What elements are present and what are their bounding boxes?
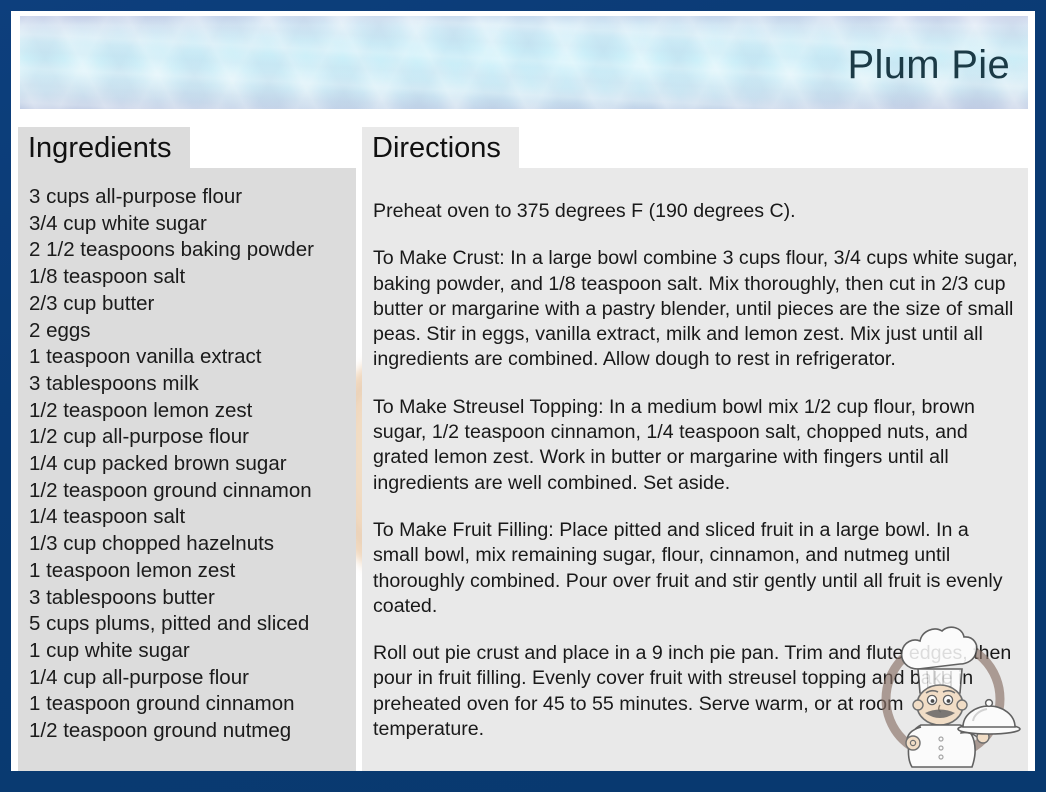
- direction-step: To Make Crust: In a large bowl combine 3…: [373, 246, 1018, 372]
- direction-step: Preheat oven to 375 degrees F (190 degre…: [373, 199, 1018, 224]
- ingredient-item: 1 teaspoon vanilla extract: [29, 344, 346, 371]
- ingredient-item: 1/2 teaspoon ground cinnamon: [29, 478, 346, 505]
- ingredient-item: 1/8 teaspoon salt: [29, 264, 346, 291]
- directions-column: Directions Preheat oven to 375 degrees F…: [362, 116, 1028, 771]
- ingredient-item: 2 1/2 teaspoons baking powder: [29, 237, 346, 264]
- ingredient-item: 3 tablespoons butter: [29, 585, 346, 612]
- header-banner: Plum Pie: [20, 16, 1028, 109]
- ingredient-item: 1/3 cup chopped hazelnuts: [29, 531, 346, 558]
- direction-step: To Make Fruit Filling: Place pitted and …: [373, 518, 1018, 619]
- ingredient-item: 3/4 cup white sugar: [29, 211, 346, 238]
- direction-step: Roll out pie crust and place in a 9 inch…: [373, 641, 1018, 742]
- directions-steps: Preheat oven to 375 degrees F (190 degre…: [373, 184, 1018, 742]
- ingredient-item: 1/2 cup all-purpose flour: [29, 424, 346, 451]
- ingredient-item: 3 cups all-purpose flour: [29, 184, 346, 211]
- ingredient-item: 1/4 cup all-purpose flour: [29, 665, 346, 692]
- ingredients-heading: Ingredients: [18, 127, 190, 168]
- ingredients-column: Ingredients 3 cups all-purpose flour3/4 …: [18, 116, 356, 771]
- recipe-title: Plum Pie: [848, 45, 1010, 85]
- ingredient-item: 1/4 teaspoon salt: [29, 504, 346, 531]
- ingredient-item: 1 teaspoon ground cinnamon: [29, 691, 346, 718]
- recipe-page: Plum Pie Ingredients 3 cups all-purpose …: [11, 11, 1035, 771]
- directions-panel-inner: Preheat oven to 375 degrees F (190 degre…: [362, 168, 1028, 742]
- directions-heading: Directions: [362, 127, 519, 168]
- ingredients-panel: 3 cups all-purpose flour3/4 cup white su…: [18, 168, 356, 771]
- ingredient-item: 2 eggs: [29, 318, 346, 345]
- ingredient-item: 1 cup white sugar: [29, 638, 346, 665]
- ingredient-item: 1 teaspoon lemon zest: [29, 558, 346, 585]
- ingredients-panel-inner: 3 cups all-purpose flour3/4 cup white su…: [18, 168, 356, 745]
- content-columns: Ingredients 3 cups all-purpose flour3/4 …: [11, 116, 1035, 771]
- recipe-card: Plum Pie Ingredients 3 cups all-purpose …: [0, 0, 1046, 792]
- directions-panel: Preheat oven to 375 degrees F (190 degre…: [362, 168, 1028, 771]
- direction-step: To Make Streusel Topping: In a medium bo…: [373, 395, 1018, 496]
- ingredient-item: 2/3 cup butter: [29, 291, 346, 318]
- ingredient-item: 1/2 teaspoon lemon zest: [29, 398, 346, 425]
- ingredient-item: 3 tablespoons milk: [29, 371, 346, 398]
- ingredient-item: 1/2 teaspoon ground nutmeg: [29, 718, 346, 745]
- ingredient-item: 1/4 cup packed brown sugar: [29, 451, 346, 478]
- ingredient-item: 5 cups plums, pitted and sliced: [29, 611, 346, 638]
- ingredients-list: 3 cups all-purpose flour3/4 cup white su…: [29, 184, 346, 745]
